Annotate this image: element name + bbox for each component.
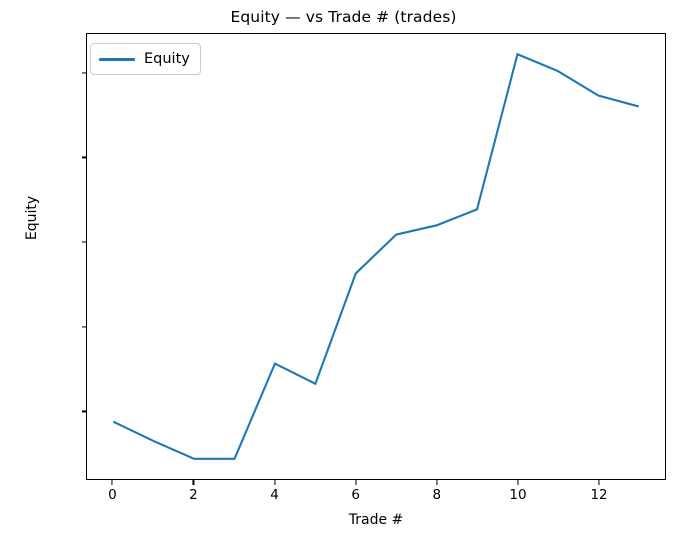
equity-chart-figure: Equity — vs Trade # (trades) Equity 2002… xyxy=(0,0,687,546)
x-tick-label: 8 xyxy=(433,487,442,503)
x-tick-label: 10 xyxy=(509,487,526,503)
x-tick-mark xyxy=(599,480,600,485)
x-tick-label: 6 xyxy=(351,487,360,503)
x-tick-mark xyxy=(436,480,437,485)
x-tick-mark xyxy=(112,480,113,485)
equity-line-series xyxy=(113,54,638,459)
x-tick-label: 0 xyxy=(108,487,117,503)
x-tick-mark xyxy=(517,480,518,485)
x-tick-label: 4 xyxy=(270,487,279,503)
chart-legend: Equity xyxy=(90,43,201,75)
x-axis-label: Trade # xyxy=(86,512,666,528)
legend-label-equity: Equity xyxy=(144,51,190,67)
plot-area xyxy=(86,33,666,480)
x-tick-label: 2 xyxy=(189,487,198,503)
x-tick-mark xyxy=(274,480,275,485)
equity-line-svg xyxy=(87,34,665,479)
legend-line-swatch-equity xyxy=(99,58,135,61)
chart-title: Equity — vs Trade # (trades) xyxy=(0,8,687,26)
x-tick-mark xyxy=(355,480,356,485)
x-tick-label: 12 xyxy=(590,487,607,503)
x-tick-mark xyxy=(193,480,194,485)
y-axis-label: Equity xyxy=(24,158,40,278)
